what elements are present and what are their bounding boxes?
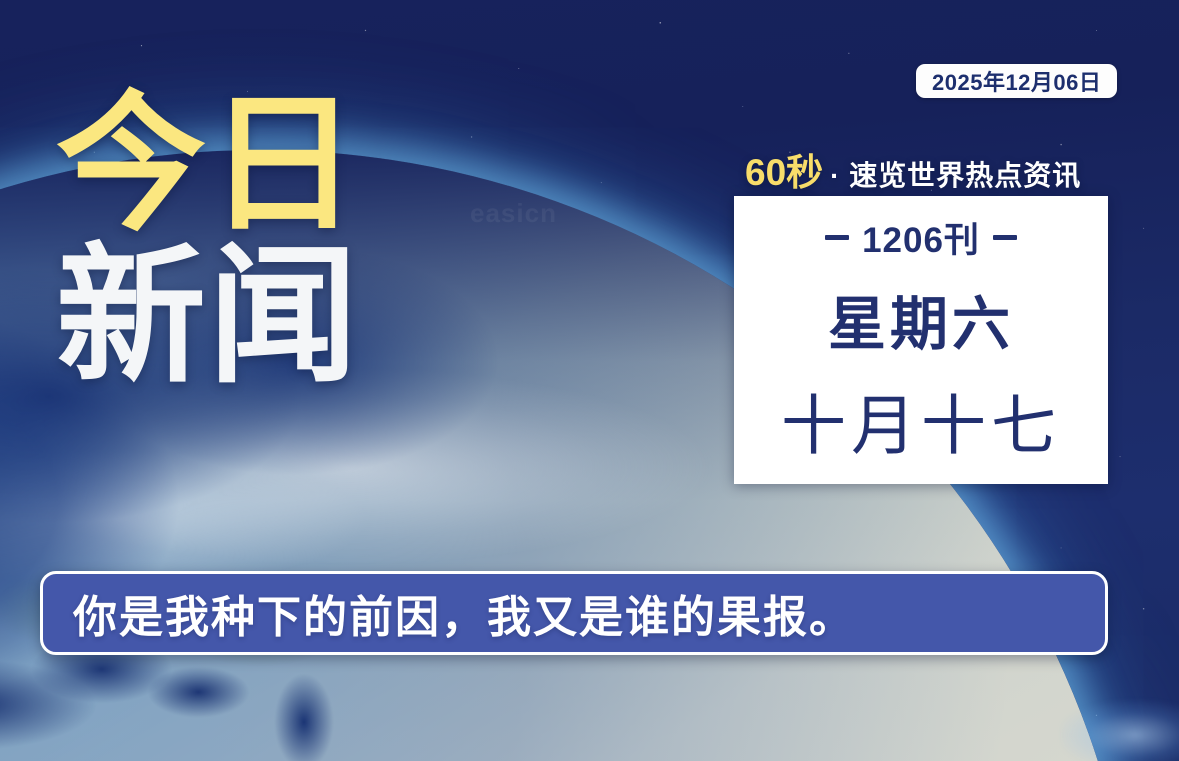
lunar-date-label: 十月十七 [781, 373, 1061, 467]
issue-number-row: 1206刊 [825, 212, 1017, 263]
issue-number: 1206刊 [862, 212, 980, 263]
issue-info-card: 1206刊 星期六 十月十七 [734, 196, 1108, 484]
tagline-seconds: 60秒 [745, 142, 823, 196]
tagline-description: · 速览世界热点资讯 [830, 154, 1081, 194]
news-poster: easicn 今日 新闻 2025年12月06日 60秒 · 速览世界热点资讯 … [0, 0, 1179, 761]
watermark-text: easicn [470, 198, 557, 229]
weekday-label: 星期六 [828, 277, 1014, 361]
quote-text: 你是我种下的前因，我又是谁的果报。 [73, 581, 855, 645]
page-title: 今日 新闻 [56, 96, 360, 387]
lens-flare [1060, 700, 1179, 761]
issue-dash-left [825, 235, 849, 240]
tagline: 60秒 · 速览世界热点资讯 [745, 142, 1081, 196]
page-title-line-2: 新闻 [56, 248, 360, 388]
issue-dash-right [993, 235, 1017, 240]
quote-bar: 你是我种下的前因，我又是谁的果报。 [40, 571, 1108, 655]
date-badge: 2025年12月06日 [916, 64, 1117, 98]
page-title-line-1: 今日 [56, 96, 360, 236]
